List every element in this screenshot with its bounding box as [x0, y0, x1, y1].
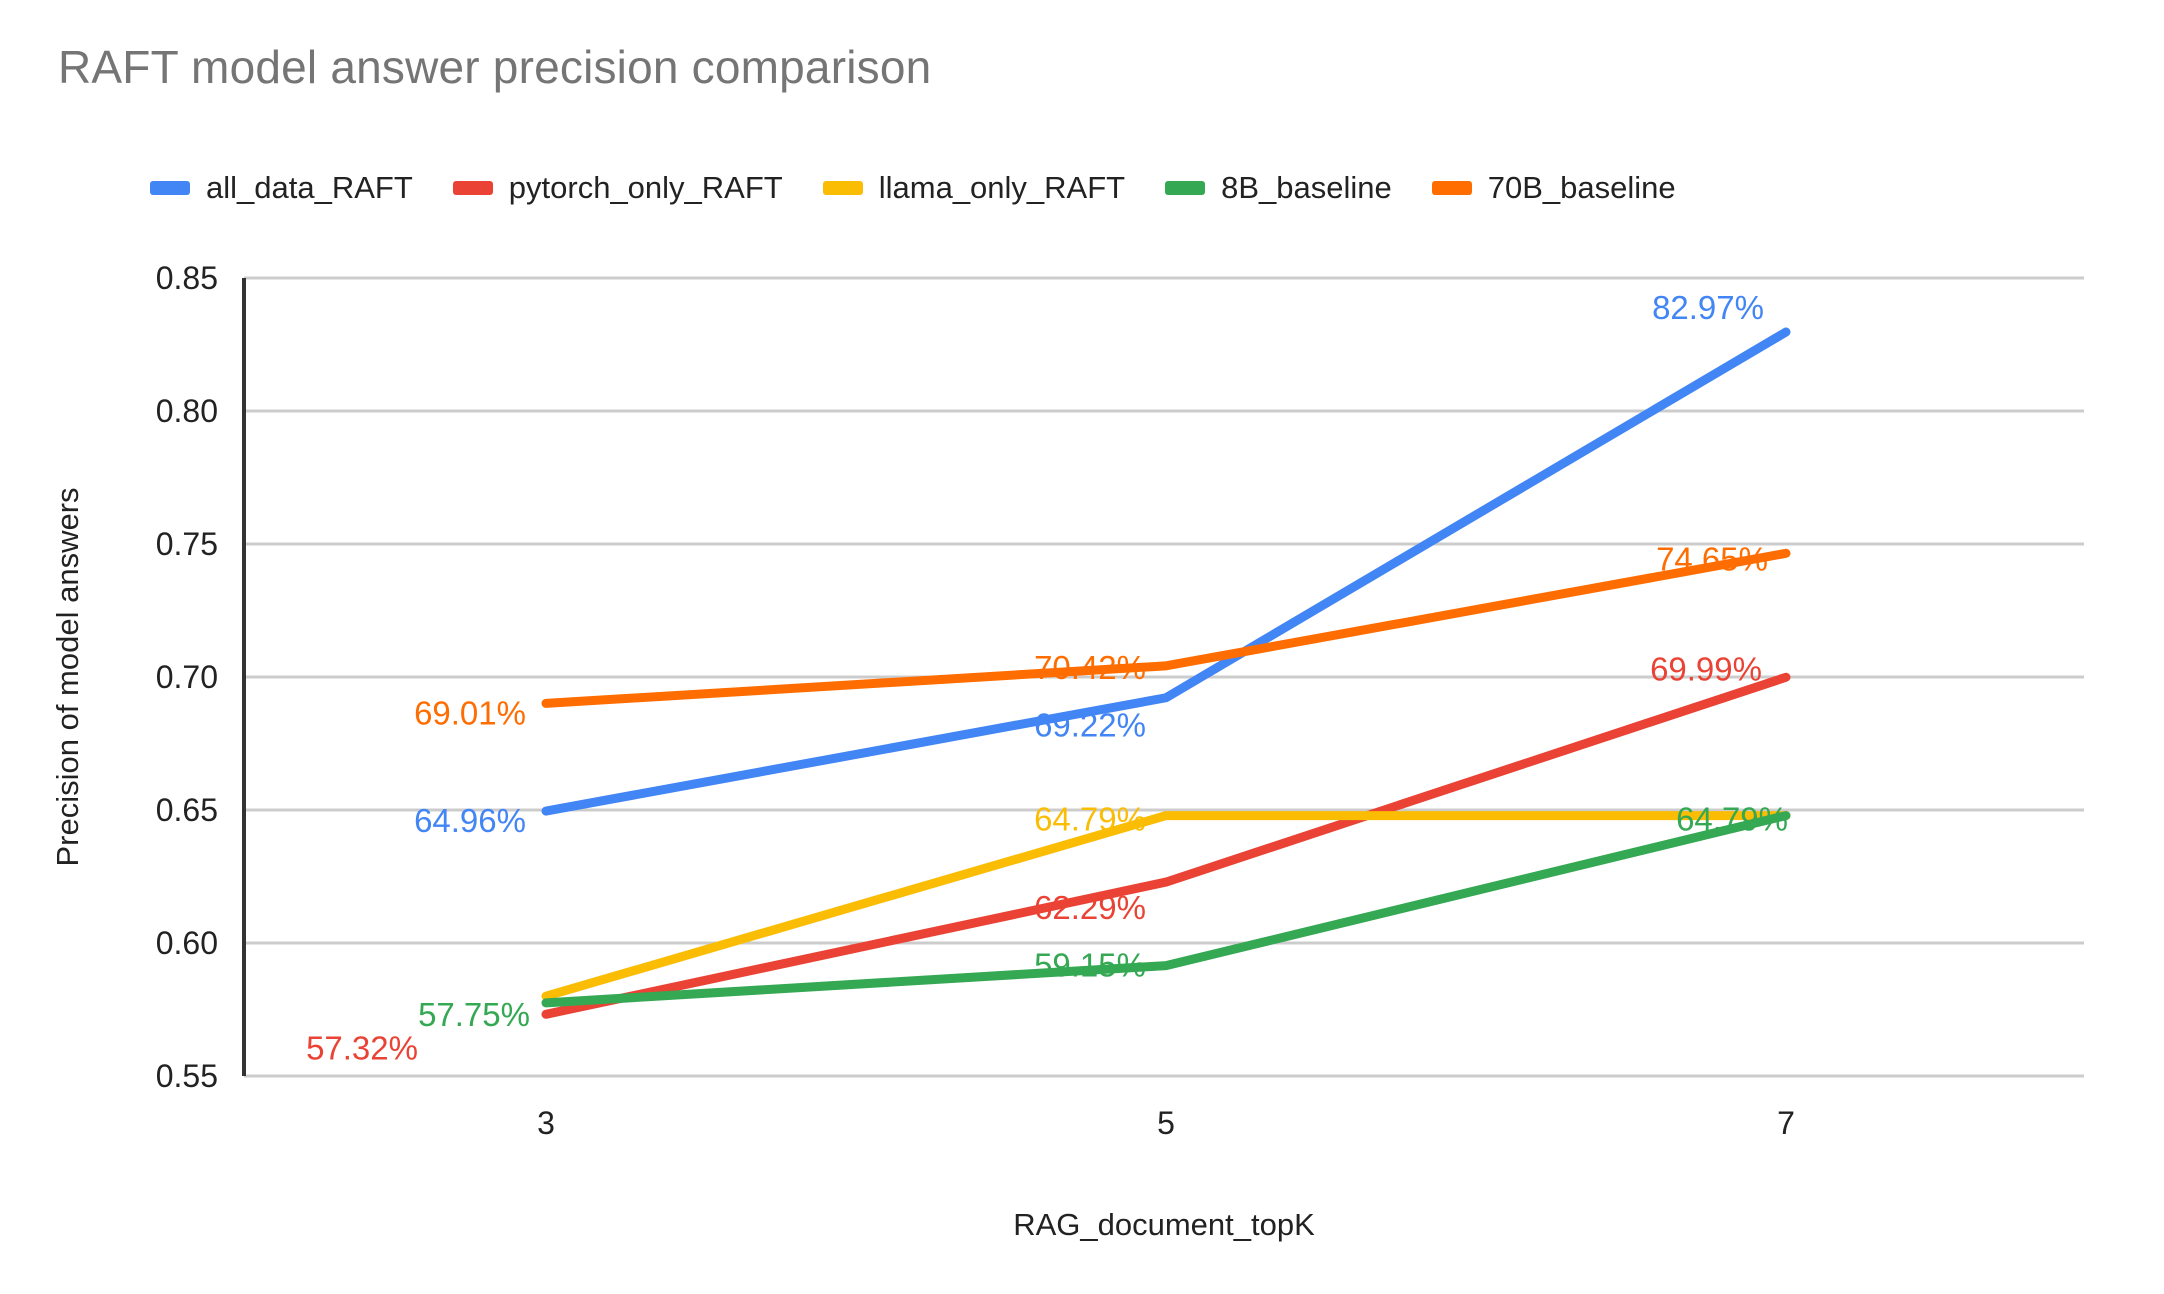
data-point-label: 69.22%	[1034, 707, 1146, 744]
data-point-label: 74.65%	[1656, 540, 1768, 577]
data-point-label: 57.32%	[306, 1029, 418, 1066]
x-axis-tick-label: 3	[537, 1105, 555, 1141]
data-point-label: 82.97%	[1652, 289, 1764, 326]
y-axis-tick-label: 0.80	[156, 393, 218, 429]
y-axis-tick-labels: 0.850.800.750.700.650.600.55	[156, 260, 218, 1094]
x-axis-tick-labels: 357	[537, 1105, 1795, 1141]
data-point-label: 69.01%	[414, 694, 526, 731]
gridlines-group	[244, 278, 2084, 1076]
data-point-label: 59.15%	[1034, 947, 1146, 984]
y-axis-tick-label: 0.55	[156, 1058, 218, 1094]
series-lines-group	[546, 332, 1786, 1014]
x-axis-tick-label: 5	[1157, 1105, 1175, 1141]
data-point-label: 64.79%	[1034, 801, 1146, 838]
y-axis-tick-label: 0.85	[156, 260, 218, 296]
data-point-label: 64.79%	[1676, 801, 1788, 838]
data-point-label: 70.42%	[1034, 649, 1146, 686]
data-point-label: 62.29%	[1034, 889, 1146, 926]
data-point-label: 64.96%	[414, 802, 526, 839]
x-axis-title: RAG_document_topK	[1013, 1207, 1315, 1242]
x-axis-tick-label: 7	[1777, 1105, 1795, 1141]
chart-container: RAFT model answer precision comparison a…	[0, 0, 2164, 1294]
y-axis-tick-label: 0.75	[156, 526, 218, 562]
series-line-70b-baseline	[546, 553, 1786, 703]
data-point-label: 57.75%	[418, 996, 530, 1033]
y-axis-tick-label: 0.70	[156, 659, 218, 695]
y-axis-tick-label: 0.65	[156, 792, 218, 828]
y-axis-title: Precision of model answers	[50, 487, 85, 866]
plot-area: 0.850.800.750.700.650.600.55 357 64.96%6…	[0, 0, 2164, 1294]
y-axis-tick-label: 0.60	[156, 925, 218, 961]
data-point-label: 69.99%	[1650, 650, 1762, 687]
